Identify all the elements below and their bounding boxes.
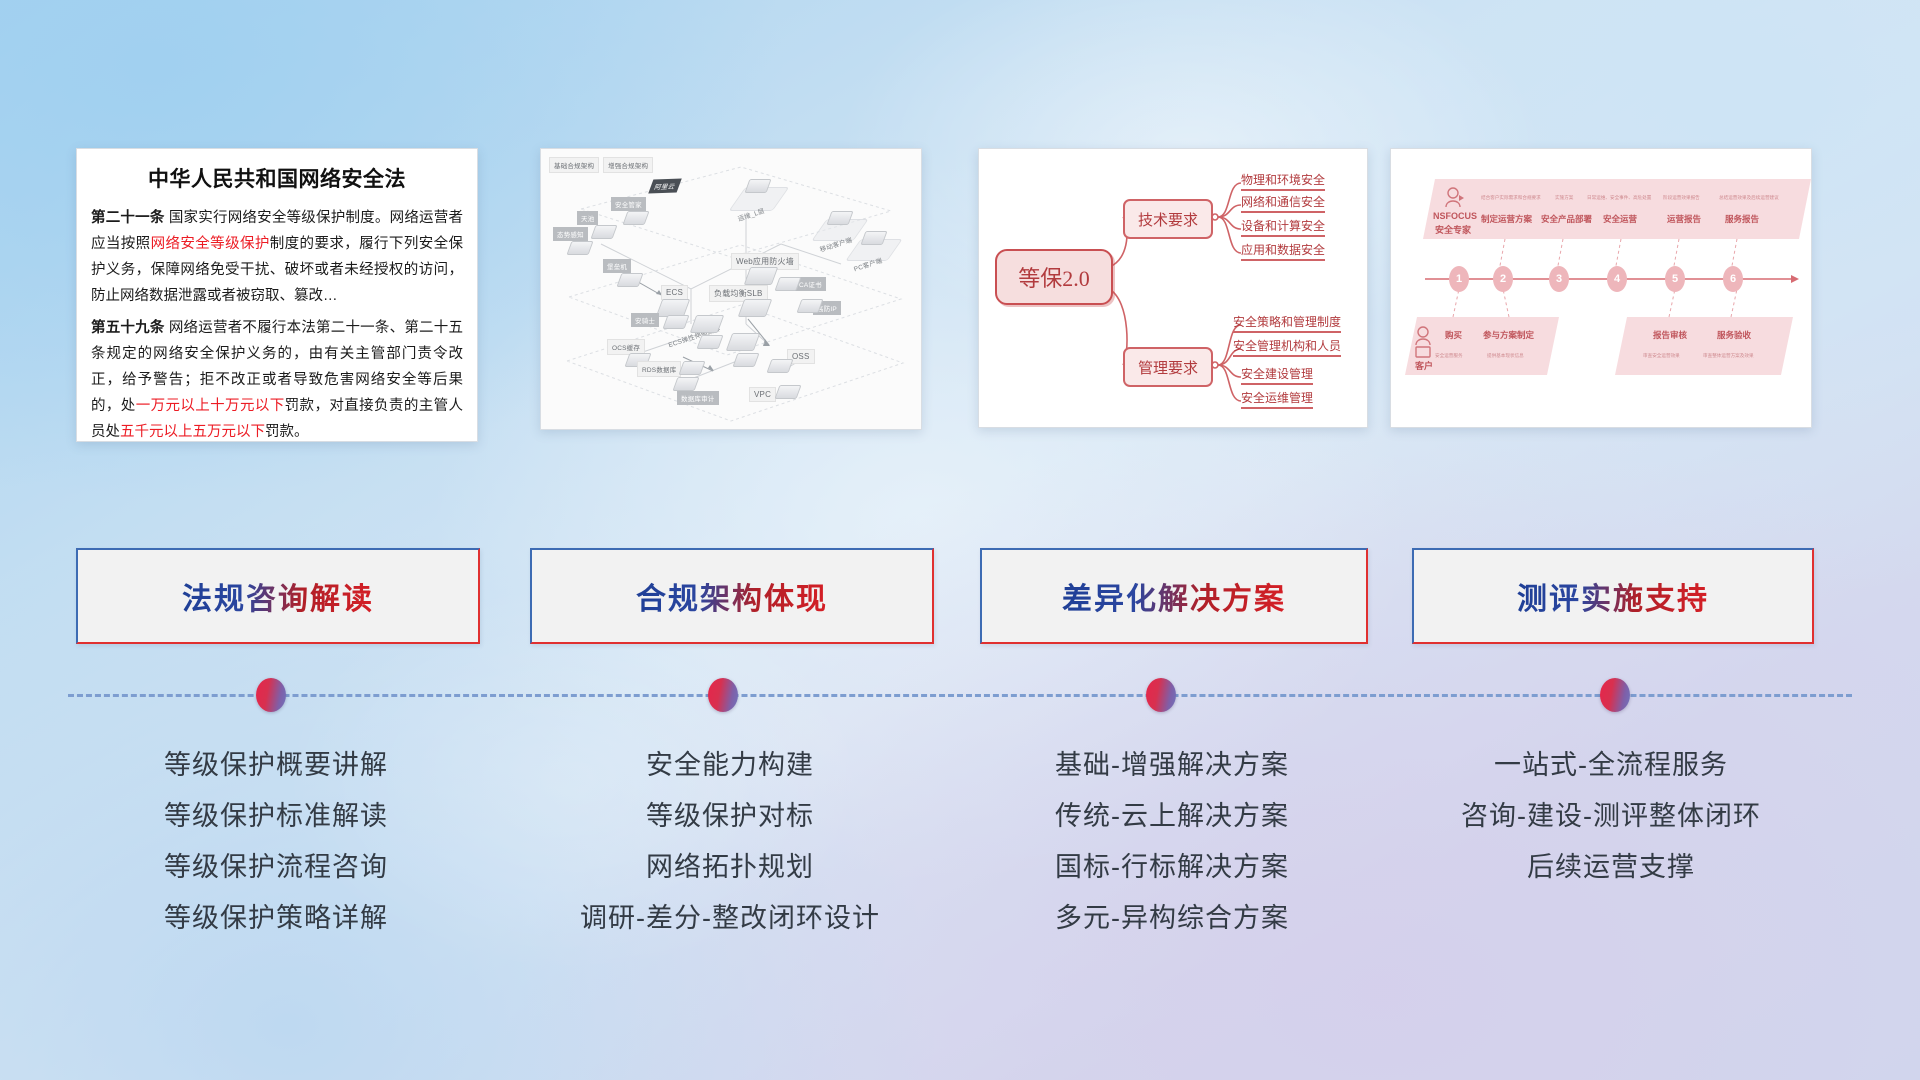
law-article-59-post: 罚款。 [265,424,309,440]
timeline-provider-name: NSFOCUS [1433,211,1477,221]
timeline-bottom-label-1: 购买 [1445,329,1462,341]
arch-cloud-label: 阿里云 [648,179,682,194]
law-article-59: 第五十九条 网络运营者不履行本法第二十一条、第二十五条规定的网络安全保护义务的，… [91,315,463,442]
arch-node-security-steward: 安全管家 [611,197,646,211]
list-item: 调研-差分-整改闭环设计 [530,893,930,944]
law-body: 第二十一条 国家实行网络安全等级保护制度。网络运营者应当按照网络安全等级保护制度… [77,205,477,442]
detail-column-1: 等级保护概要讲解 等级保护标准解读 等级保护流程咨询 等级保护策略详解 [80,740,472,944]
timeline-top-sub-4: 阶段运营效果报告 [1663,195,1700,201]
arch-node-ecs: ECS [661,285,688,300]
mindmap-leaf-physical-environment-security: 物理和环境安全 [1241,171,1325,191]
timeline-top-sub-1: 结合客户实际需求和合规要求 [1481,195,1541,201]
timeline-bottom-label-4: 服务验收 [1717,329,1751,341]
arch-node-anqishi: 安骑士 [631,313,659,327]
list-item: 等级保护策略详解 [80,893,472,944]
heading-row: 法规咨询解读 合规架构体现 差异化解决方案 测评实施支持 [0,548,1920,644]
arch-node-situational-awareness: 态势感知 [553,227,588,241]
list-item: 等级保护对标 [530,791,930,842]
heading-box-regulation-consulting[interactable]: 法规咨询解读 [76,548,480,644]
heading-box-compliance-architecture[interactable]: 合规架构体现 [530,548,934,644]
timeline-step-2: 2 [1493,266,1513,292]
list-item: 后续运营支撑 [1408,842,1814,893]
law-article-21-highlight: 网络安全等级保护 [151,236,270,252]
timeline-dot-1[interactable] [256,678,286,712]
detail-list-2: 安全能力构建 等级保护对标 网络拓扑规划 调研-差分-整改闭环设计 [530,740,930,944]
heading-label-4: 测评实施支持 [1517,574,1709,618]
timeline-step-1: 1 [1449,266,1469,292]
list-item: 网络拓扑规划 [530,842,930,893]
arch-tab-enhanced[interactable]: 增强合规架构 [603,157,653,173]
timeline-dot-2[interactable] [708,678,738,712]
card-cybersecurity-law[interactable]: 中华人民共和国网络安全法 第二十一条 国家实行网络安全等级保护制度。网络运营者应… [76,148,478,442]
detail-column-4: 一站式-全流程服务 咨询-建设-测评整体闭环 后续运营支撑 [1408,740,1814,893]
timeline-top-sub-2: 实施方案 [1555,195,1573,201]
card-dengbao-mindmap[interactable]: 等保2.0 技术要求 物理和环境安全 网络和通信安全 设备和计算安全 应用和数据… [978,148,1368,428]
architecture-diagram: 基础合规架构 增强合规架构 阿里云 态势感知 天池 安全管家 堡垒机 运维_L层… [541,149,921,429]
timeline-bottom-label-2: 参与方案制定 [1483,329,1534,341]
mindmap-leaf-network-communication-security: 网络和通信安全 [1241,193,1325,213]
law-article-21-label: 第二十一条 [91,210,165,226]
timeline-step-3: 3 [1549,266,1569,292]
list-item: 咨询-建设-测评整体闭环 [1408,791,1814,842]
card-row: 中华人民共和国网络安全法 第二十一条 国家实行网络安全等级保护制度。网络运营者应… [0,148,1920,444]
arch-node-bastion: 堡垒机 [603,259,631,273]
mindmap-branch-management: 管理要求 [1123,347,1213,387]
card-cloud-architecture[interactable]: 基础合规架构 增强合规架构 阿里云 态势感知 天池 安全管家 堡垒机 运维_L层… [540,148,922,430]
law-title: 中华人民共和国网络安全法 [77,163,477,193]
law-article-59-label: 第五十九条 [91,320,165,336]
list-item: 国标-行标解决方案 [980,842,1364,893]
mindmap-branch-technical: 技术要求 [1123,199,1213,239]
heading-label-2: 合规架构体现 [636,574,828,618]
mindmap-leaf-application-data-security: 应用和数据安全 [1241,241,1325,261]
mindmap-leaf-security-ops-mgmt: 安全运维管理 [1241,389,1313,409]
timeline-step-5: 5 [1665,266,1685,292]
list-item: 等级保护流程咨询 [80,842,472,893]
arch-node-vpc: VPC [749,387,776,402]
law-article-21: 第二十一条 国家实行网络安全等级保护制度。网络运营者应当按照网络安全等级保护制度… [91,205,463,309]
law-article-59-highlight-1: 一万元以上十万元以下 [136,398,285,414]
timeline-top-label-4: 运营报告 [1667,213,1701,225]
law-article-59-highlight-2: 五千元以上五万元以下 [120,424,265,440]
detail-list-4: 一站式-全流程服务 咨询-建设-测评整体闭环 后续运营支撑 [1408,740,1814,893]
slide-stage: 中华人民共和国网络安全法 第二十一条 国家实行网络安全等级保护制度。网络运营者应… [0,0,1920,1080]
timeline-top-label-2: 安全产品部署 [1541,213,1592,225]
timeline-bottom-sub-3: 审查安全运营效果 [1643,353,1680,359]
timeline-bottom-label-3: 报告审核 [1653,329,1687,341]
service-timeline-diagram: NSFOCUS 安全专家 客户 结合客户实际需求和合规要求 制定运营方案 实施方… [1391,149,1811,427]
heading-label-1: 法规咨询解读 [182,574,374,618]
list-item: 等级保护概要讲解 [80,740,472,791]
list-item: 传统-云上解决方案 [980,791,1364,842]
timeline-dot-3[interactable] [1146,678,1176,712]
timeline-bottom-sub-2: 提供基本现状信息 [1487,353,1524,359]
heading-label-3: 差异化解决方案 [1062,574,1286,618]
mindmap-leaf-security-org-personnel: 安全管理机构和人员 [1233,337,1341,357]
arch-node-tianchi: 天池 [577,211,598,225]
detail-list-3: 基础-增强解决方案 传统-云上解决方案 国标-行标解决方案 多元-异构综合方案 [980,740,1364,944]
detail-column-2: 安全能力构建 等级保护对标 网络拓扑规划 调研-差分-整改闭环设计 [530,740,930,944]
timeline-dashed-line [68,694,1852,697]
mindmap-leaf-security-policy-system: 安全策略和管理制度 [1233,313,1341,333]
timeline-provider-role: 安全专家 [1435,223,1471,236]
timeline-customer-role: 客户 [1415,359,1433,372]
detail-column-3: 基础-增强解决方案 传统-云上解决方案 国标-行标解决方案 多元-异构综合方案 [980,740,1364,944]
timeline-bottom-sub-4: 审查整体运营方案及效果 [1703,353,1754,359]
timeline-step-6: 6 [1723,266,1743,292]
timeline-dot-4[interactable] [1600,678,1630,712]
list-item: 安全能力构建 [530,740,930,791]
mindmap-leaf-security-construction-mgmt: 安全建设管理 [1241,365,1313,385]
mindmap-root: 等保2.0 [995,249,1113,305]
timeline-top-label-1: 制定运营方案 [1481,213,1532,225]
timeline-top-sub-5: 总结运营效果及后续运营建议 [1719,195,1779,201]
heading-box-assessment-support[interactable]: 测评实施支持 [1412,548,1814,644]
mindmap-leaf-device-computing-security: 设备和计算安全 [1241,217,1325,237]
list-item: 一站式-全流程服务 [1408,740,1814,791]
arch-node-db-audit: 数据库审计 [677,391,719,405]
heading-box-differentiated-solution[interactable]: 差异化解决方案 [980,548,1368,644]
mindmap: 等保2.0 技术要求 物理和环境安全 网络和通信安全 设备和计算安全 应用和数据… [979,149,1367,427]
detail-list-1: 等级保护概要讲解 等级保护标准解读 等级保护流程咨询 等级保护策略详解 [80,740,472,944]
arch-node-rds: RDS数据库 [637,361,681,377]
timeline-bottom-sub-1: 安全运营服务 [1435,353,1463,359]
list-item: 等级保护标准解读 [80,791,472,842]
timeline-top-sub-3: 日常运维、安全事件、高危处置 [1587,195,1651,201]
list-item: 多元-异构综合方案 [980,893,1364,944]
timeline-step-4: 4 [1607,266,1627,292]
timeline-top-label-3: 安全运营 [1603,213,1637,225]
list-item: 基础-增强解决方案 [980,740,1364,791]
arch-tab-basic[interactable]: 基础合规架构 [549,157,599,173]
card-service-timeline[interactable]: NSFOCUS 安全专家 客户 结合客户实际需求和合规要求 制定运营方案 实施方… [1390,148,1812,428]
timeline-top-label-5: 服务报告 [1725,213,1759,225]
